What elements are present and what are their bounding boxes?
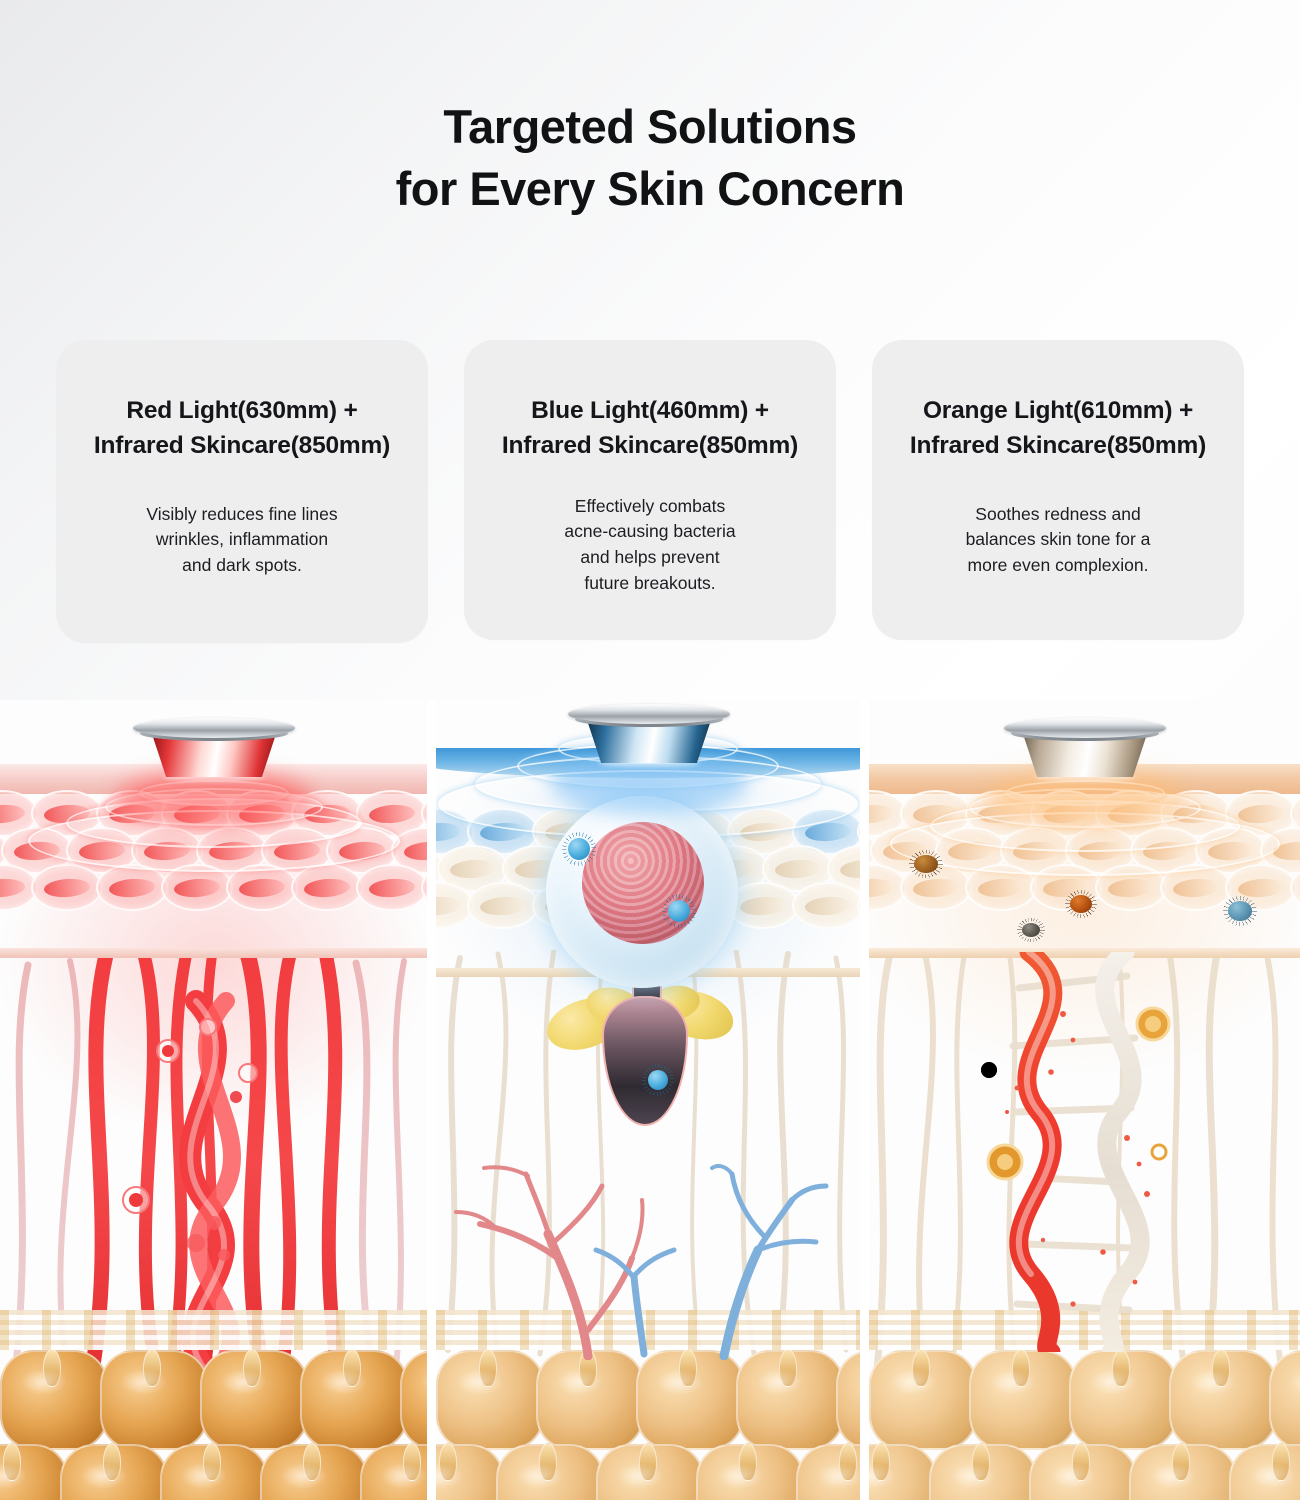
card-body-line-4: future breakouts. [482,571,818,597]
fat-globule [100,1350,208,1450]
fat-globule [496,1444,604,1500]
card-description: Effectively combats acne-causing bacteri… [482,494,818,598]
fat-globule [160,1444,268,1500]
fat-globule [1229,1444,1300,1500]
melanin-spot-brown [909,850,943,878]
fat-globule [869,1444,937,1500]
card-body-line-2: acne-causing bacteria [482,519,818,545]
subcutaneous-fat-layer [869,1350,1300,1500]
card-body-line-1: Effectively combats [482,494,818,520]
card-description: Soothes redness and balances skin tone f… [890,502,1226,580]
spot-core [1022,923,1040,937]
fat-globule [436,1444,504,1500]
card-title-line-2: Infrared Skincare(850mm) [482,429,818,464]
fat-globule [400,1350,427,1450]
dna-double-helix [977,952,1187,1352]
skin-cell [792,882,860,929]
skin-cell [1160,864,1232,911]
fat-globule [636,1350,744,1450]
bacteria-cell [568,838,590,860]
card-title-line-2: Infrared Skincare(850mm) [890,429,1226,464]
fat-globule [596,1444,704,1500]
bacteria-cell [668,900,690,922]
skin-cell [291,864,363,911]
illustration-panel-orange-light [869,700,1300,1500]
illustration-stage [0,700,1300,1500]
fat-globule [1269,1350,1300,1450]
device-outer-rim [133,718,295,738]
skin-cell [965,864,1037,911]
fat-globule [360,1444,427,1500]
card-title-line-1: Orange Light(610mm) + [890,394,1226,429]
skin-cell [96,864,168,911]
skin-cell [31,864,103,911]
fat-globule [1169,1350,1277,1450]
card-body-line-1: Soothes redness and [890,502,1226,528]
card-body-line-2: balances skin tone for a [890,527,1226,553]
fat-row [869,1444,1300,1500]
bacteria-cell [648,1070,668,1090]
card-description: Visibly reduces fine lines wrinkles, inf… [74,502,410,580]
fat-globule [0,1350,108,1450]
fat-globule [696,1444,804,1500]
fat-globule [1029,1444,1137,1500]
melanin-spot-dark [1017,918,1045,942]
red-light-device-head[interactable] [133,718,295,738]
skin-cell [356,864,427,911]
fat-row [436,1350,860,1450]
card-title-line-1: Blue Light(460mm) + [482,394,818,429]
fat-globule [869,1350,977,1450]
illustration-panel-red-light [0,700,427,1500]
fat-row [0,1350,427,1450]
card-title: Red Light(630mm) + Infrared Skincare(850… [74,394,410,464]
feature-card-blue-light[interactable]: Blue Light(460mm) + Infrared Skincare(85… [464,340,836,640]
fat-globule [836,1350,860,1450]
device-outer-rim [568,704,730,724]
feature-card-red-light[interactable]: Red Light(630mm) + Infrared Skincare(850… [56,340,428,643]
skin-cell [467,882,539,929]
card-body-line-3: more even complexion. [890,553,1226,579]
dermis-weave-layer [0,1310,427,1350]
blue-light-device-head[interactable] [568,704,730,724]
page-title-line-2: for Every Skin Concern [0,158,1300,220]
fat-globule [436,1350,544,1450]
spot-core [1228,901,1252,921]
fat-globule [60,1444,168,1500]
fat-globule [1129,1444,1237,1500]
melanin-spot-orange [1065,890,1097,918]
spot-core [1070,895,1092,913]
orange-light-device-head[interactable] [1004,718,1166,738]
gold-particles [981,1008,1169,1179]
panel-divider [427,700,436,1500]
subcutaneous-fat-layer [0,1350,427,1500]
skin-cell [226,864,298,911]
card-title-line-1: Red Light(630mm) + [74,394,410,429]
card-body-line-1: Visibly reduces fine lines [74,502,410,528]
feature-card-row: Red Light(630mm) + Infrared Skincare(850… [0,340,1300,650]
card-body-line-3: and dark spots. [74,553,410,579]
fat-row [869,1350,1300,1450]
card-title-line-2: Infrared Skincare(850mm) [74,429,410,464]
basal-membrane [0,948,427,958]
spot-core [914,855,938,873]
device-outer-rim [1004,718,1166,738]
fat-globule [536,1350,644,1450]
fat-globule [1069,1350,1177,1450]
card-body-line-3: and helps prevent [482,545,818,571]
fat-globule [0,1444,68,1500]
fat-row [0,1444,427,1500]
page-header: Targeted Solutions for Every Skin Concer… [0,0,1300,220]
feature-card-orange-light[interactable]: Orange Light(610mm) + Infrared Skincare(… [872,340,1244,640]
card-title: Orange Light(610mm) + Infrared Skincare(… [890,394,1226,464]
blood-vessel-network [436,1150,860,1360]
fat-globule [260,1444,368,1500]
panel-divider [860,700,869,1500]
fat-globule [300,1350,408,1450]
illustration-panel-blue-light [436,700,860,1500]
fat-globule [969,1350,1077,1450]
fat-row [436,1444,860,1500]
skin-cell [161,864,233,911]
card-title: Blue Light(460mm) + Infrared Skincare(85… [482,394,818,464]
fat-globule [200,1350,308,1450]
skin-cell [1095,864,1167,911]
page-title-line-1: Targeted Solutions [0,96,1300,158]
fat-globule [929,1444,1037,1500]
fat-globule [796,1444,860,1500]
card-body-line-2: wrinkles, inflammation [74,527,410,553]
fat-globule [736,1350,844,1450]
melanin-spot-blue [1223,896,1257,926]
subcutaneous-fat-layer [436,1350,860,1500]
